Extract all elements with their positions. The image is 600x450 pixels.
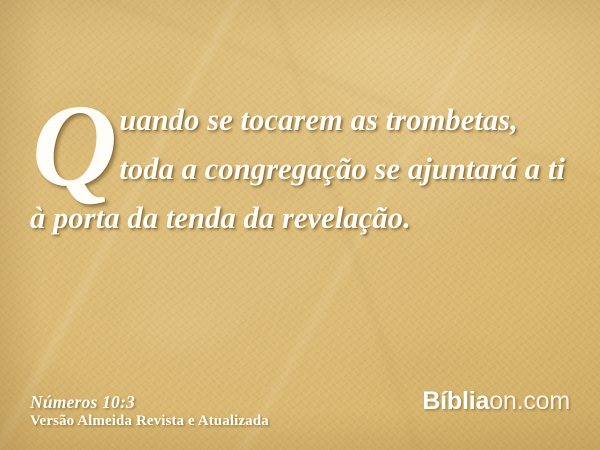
verse-card: Quando se tocarem as trombetas, toda a c… bbox=[0, 0, 600, 450]
verse-dropcap: Q bbox=[32, 98, 117, 192]
logo-bold-text: Bíblia bbox=[422, 387, 489, 415]
reference-bible-version: Versão Almeida Revista e Atualizada bbox=[30, 414, 269, 430]
verse-text: Quando se tocarem as trombetas, toda a c… bbox=[30, 96, 575, 243]
bibliaon-logo[interactable]: Bíbliaon.com bbox=[422, 389, 570, 432]
reference-book-and-verse: Números 10:3 bbox=[30, 393, 269, 411]
verse-reference: Números 10:3 Versão Almeida Revista e At… bbox=[30, 393, 269, 432]
card-footer: Números 10:3 Versão Almeida Revista e At… bbox=[0, 376, 600, 432]
logo-light-text: on.com bbox=[489, 387, 570, 415]
